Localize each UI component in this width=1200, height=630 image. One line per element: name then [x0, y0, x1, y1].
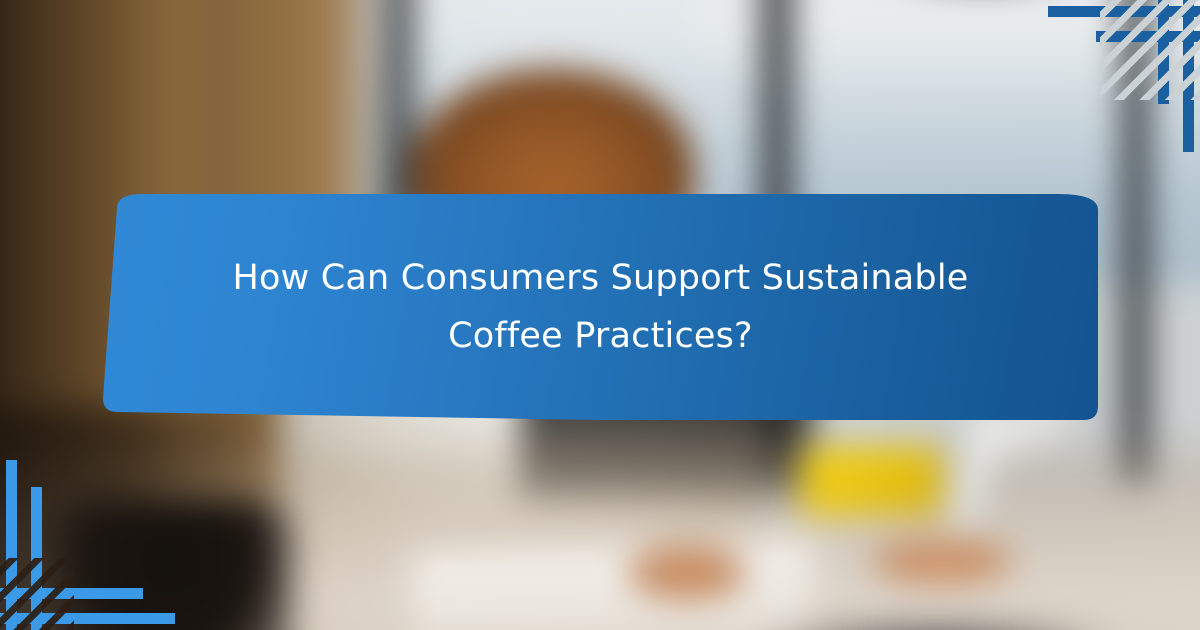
page-title-line-2: Coffee Practices?: [448, 311, 753, 363]
window-mullion: [1116, 0, 1156, 484]
title-banner-text: How Can Consumers Support Sustainable Co…: [103, 194, 1098, 422]
person-hand: [627, 546, 748, 600]
person-hand: [868, 538, 1015, 584]
title-banner: How Can Consumers Support Sustainable Co…: [103, 194, 1098, 422]
desk-papers: [411, 539, 816, 630]
chair-silhouette: [51, 500, 292, 630]
sticky-note: [801, 446, 942, 515]
page-title-line-1: How Can Consumers Support Sustainable: [232, 253, 968, 305]
foreground-shadow: [734, 623, 1136, 630]
share-card-canvas: How Can Consumers Support Sustainable Co…: [0, 0, 1200, 630]
